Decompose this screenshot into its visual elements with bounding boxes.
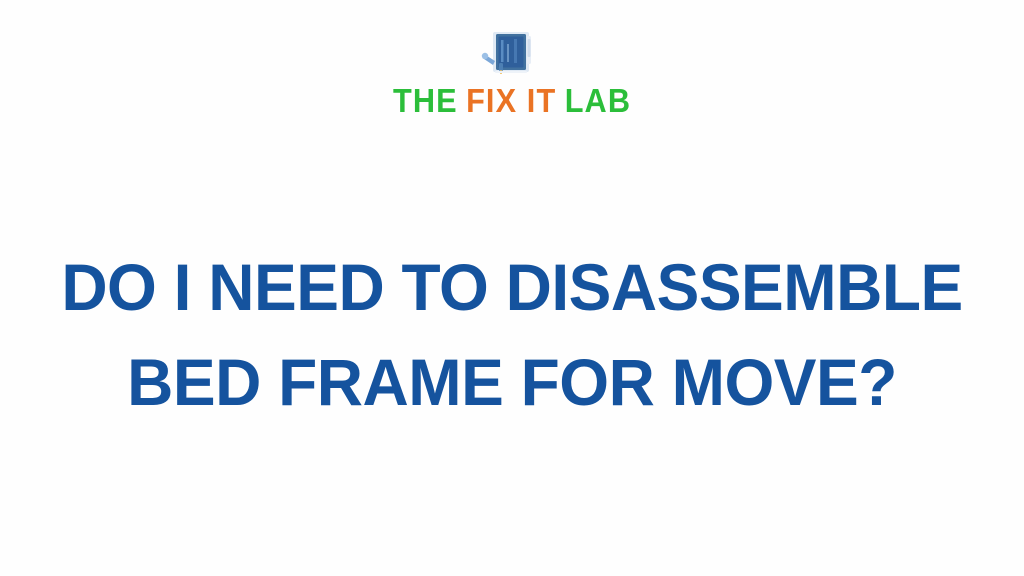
brand-wordmark: THEFIX ITLAB [393, 84, 631, 117]
brand-wordmark-fixit: FIX IT [466, 82, 556, 119]
page-title-line-2: BED FRAME FOR MOVE? [15, 335, 1008, 430]
brand-wordmark-lab: LAB [565, 82, 631, 119]
page-title: DO I NEED TO DISASSEMBLE BED FRAME FOR M… [0, 240, 1024, 430]
device-repair-icon [481, 30, 543, 78]
brand-wordmark-the: THE [393, 82, 458, 119]
title-card: THEFIX ITLAB DO I NEED TO DISASSEMBLE BE… [0, 0, 1024, 576]
page-title-line-1: DO I NEED TO DISASSEMBLE [15, 240, 1008, 335]
brand-logo-lockup[interactable]: THEFIX ITLAB [0, 30, 1024, 117]
